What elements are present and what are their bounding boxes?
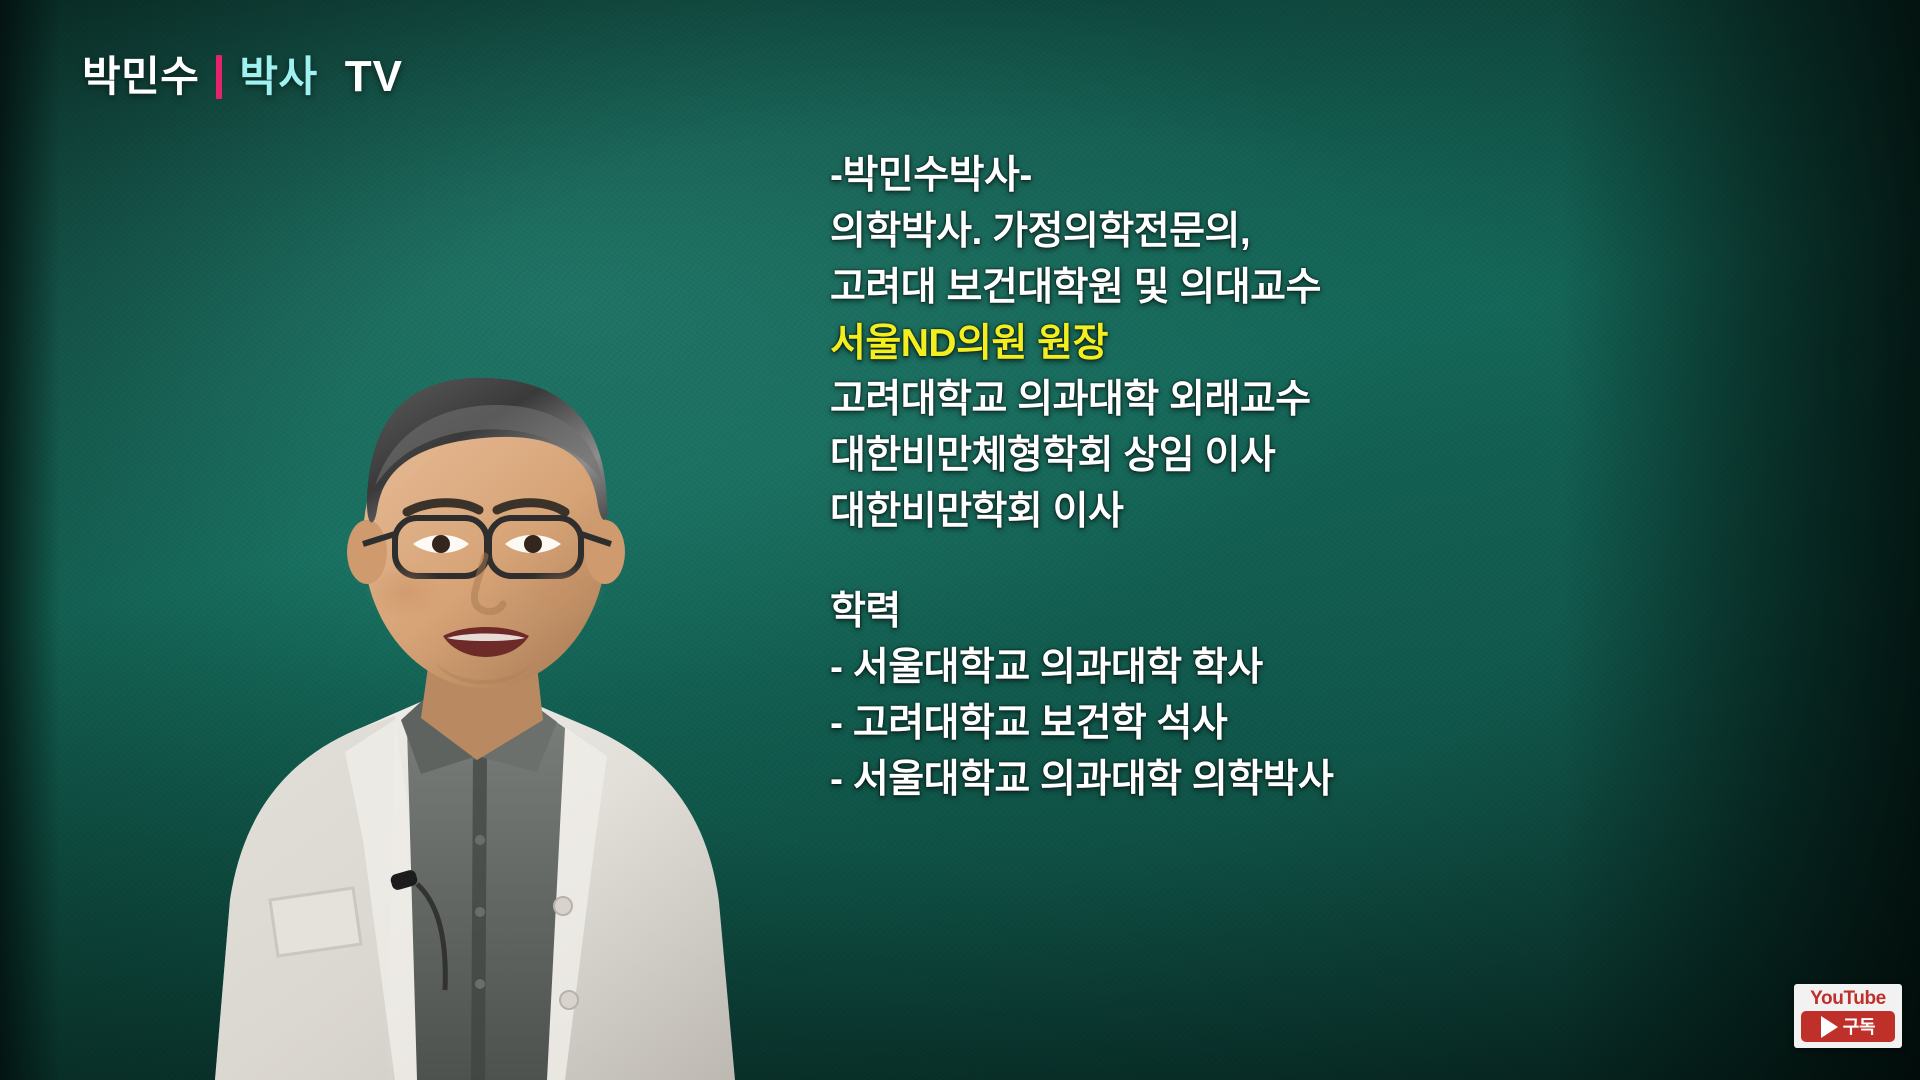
channel-logo-tv: TV xyxy=(345,55,403,99)
education-item-master: - 고려대학교 보건학 석사 xyxy=(830,696,1570,752)
credential-line-clinic-director: 서울ND의원 원장 xyxy=(830,316,1570,372)
credential-line-professor: 고려대 보건대학원 및 의대교수 xyxy=(830,260,1570,316)
video-frame: 박민수 박사 TV -박민수박사- 의학박사. 가정의학전문의, 고려대 보건대… xyxy=(0,0,1920,1080)
subscribe-button-label: 구독 xyxy=(1843,1018,1876,1036)
credentials-panel: -박민수박사- 의학박사. 가정의학전문의, 고려대 보건대학원 및 의대교수 … xyxy=(830,148,1570,808)
subscribe-button[interactable]: 구독 xyxy=(1801,1011,1895,1042)
credential-line-obesity-association-director: 대한비만학회 이사 xyxy=(830,484,1570,540)
play-triangle-icon xyxy=(1821,1016,1838,1038)
channel-logo: 박민수 박사 TV xyxy=(82,55,403,99)
youtube-subscribe-badge[interactable]: YouTube 구독 xyxy=(1794,984,1902,1048)
youtube-wordmark: YouTube xyxy=(1810,989,1886,1008)
credentials-spacer xyxy=(830,540,1570,584)
credential-line-obesity-society-director: 대한비만체형학회 상임 이사 xyxy=(830,428,1570,484)
education-item-bachelor: - 서울대학교 의과대학 학사 xyxy=(830,640,1570,696)
credential-line-adjunct-professor: 고려대학교 의과대학 외래교수 xyxy=(830,372,1570,428)
education-section-heading: 학력 xyxy=(830,584,1570,640)
channel-logo-subtitle: 박사 xyxy=(239,56,317,98)
channel-logo-divider-bar xyxy=(216,55,222,99)
education-item-doctorate: - 서울대학교 의과대학 의학박사 xyxy=(830,752,1570,808)
credential-line-degree: 의학박사. 가정의학전문의, xyxy=(830,204,1570,260)
channel-logo-name: 박민수 xyxy=(82,56,199,98)
credential-line-title: -박민수박사- xyxy=(830,148,1570,204)
